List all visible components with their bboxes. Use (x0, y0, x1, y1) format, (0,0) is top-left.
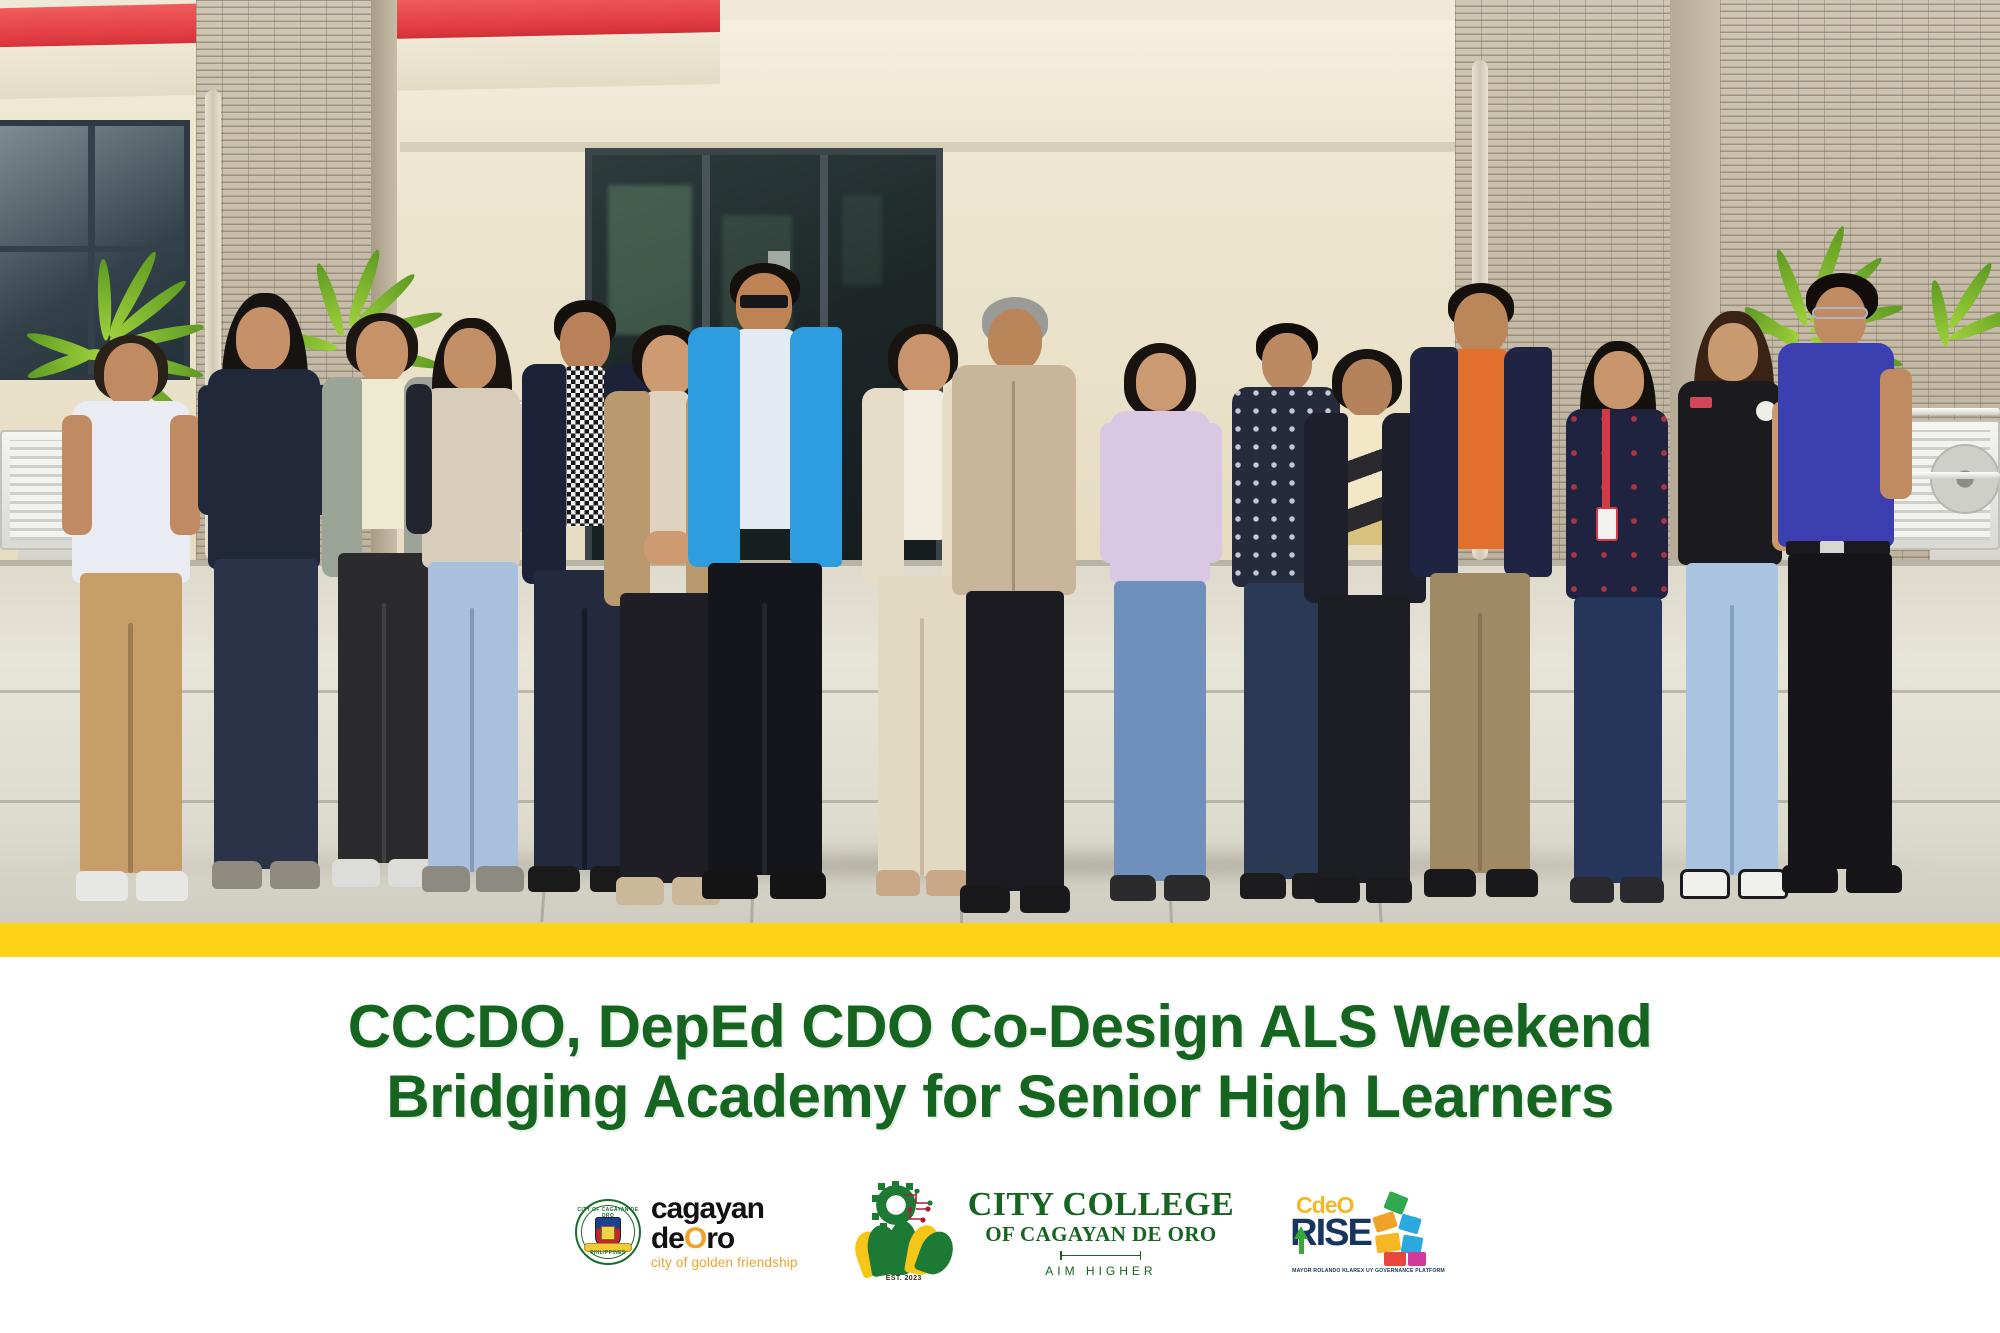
poster-title-line-1: CCCDO, DepEd CDO Co-Design ALS Weekend (0, 992, 2000, 1062)
cdeo-word-line-1: cagayan (651, 1194, 798, 1224)
seal-arc-bottom-text: PHILIPPINES (577, 1250, 639, 1256)
city-college-established-text: EST. 2023 (854, 1275, 954, 1282)
cagayan-de-oro-seal-icon: CITY OF CAGAYAN DE ORO PHILIPPINES (575, 1199, 641, 1265)
group-photo (0, 0, 2000, 923)
logo-row: CITY OF CAGAYAN DE ORO PHILIPPINES cagay… (0, 1172, 2000, 1292)
person-man-beige-barong (938, 295, 1090, 923)
city-college-line-2: OF CAGAYAN DE ORO (968, 1222, 1234, 1247)
city-college-rule (968, 1251, 1234, 1260)
caption-area: CCCDO, DepEd CDO Co-Design ALS Weekend B… (0, 957, 2000, 1333)
person-man-blue-shirt-black-pants (1762, 273, 1922, 923)
poster-title: CCCDO, DepEd CDO Co-Design ALS Weekend B… (0, 992, 2000, 1132)
city-college-wordmark: CITY COLLEGE OF CAGAYAN DE ORO AIM HIGHE… (968, 1186, 1234, 1278)
person-man-orange-shirt-navy-blazer (1400, 283, 1560, 923)
cagayan-de-oro-wordmark: cagayan deOro city of golden friendship (651, 1194, 798, 1270)
cdeo-tagline: city of golden friendship (651, 1256, 798, 1270)
logo-city-college: EST. 2023 CITY COLLEGE OF CAGAYAN DE ORO… (854, 1185, 1234, 1280)
cdeo-word-line-2: deOro (651, 1224, 798, 1254)
person-man-blue-barong-center (680, 263, 850, 923)
person-woman-lavender-blouse-jeans (1090, 323, 1230, 923)
cdeo-rise-emblem-icon: CdeO RISE MAYOR ROLANDO KLAREX UY GOVERN… (1290, 1192, 1425, 1272)
city-college-emblem-icon: EST. 2023 (854, 1185, 954, 1280)
city-college-line-3: AIM HIGHER (968, 1264, 1234, 1278)
circuit-icon (902, 1189, 936, 1225)
event-poster: CCCDO, DepEd CDO Co-Design ALS Weekend B… (0, 0, 2000, 1333)
cdeo-rise-tagline: MAYOR ROLANDO KLAREX UY GOVERNANCE PLATF… (1292, 1268, 1445, 1274)
logo-cagayan-de-oro: CITY OF CAGAYAN DE ORO PHILIPPINES cagay… (575, 1194, 798, 1270)
up-arrow-stem (1299, 1238, 1304, 1254)
yellow-divider-band (0, 923, 2000, 957)
poster-title-line-2: Bridging Academy for Senior High Learner… (0, 1062, 2000, 1132)
logo-cdeo-rise: CdeO RISE MAYOR ROLANDO KLAREX UY GOVERN… (1290, 1192, 1425, 1272)
wall-trim-band (400, 142, 1500, 152)
city-college-line-1: CITY COLLEGE (968, 1186, 1234, 1224)
person-woman-white-tshirt-khaki-pants (50, 323, 210, 923)
